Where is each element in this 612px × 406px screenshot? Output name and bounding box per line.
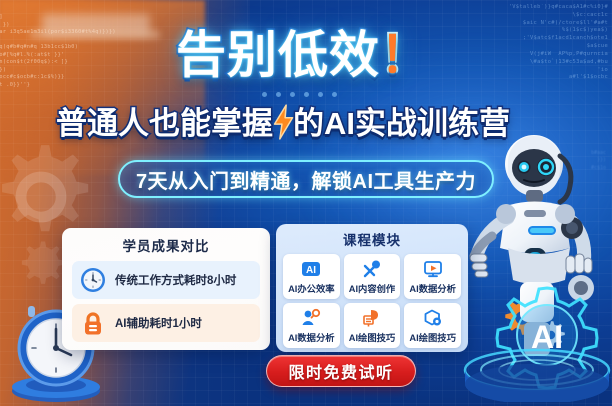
subheadline-left: 普通人也能掌握 [56,98,273,143]
stat-body: 传统工作方式耗时8小时 [115,271,253,289]
cta-label: 限时免费试听 [288,359,393,383]
dot-decoration-row [262,92,337,97]
headline-text: 告别低效 [176,27,380,83]
module-ai-draw-1[interactable]: AI绘图技巧 [344,303,401,348]
hologram-platform [462,330,612,402]
stat-label-ai: AI辅助耗时1小时 [115,318,202,330]
lightning-bolt-icon [270,104,296,140]
lock-icon [79,309,107,337]
user-search-icon [301,308,321,328]
hexagon-gear-icon [423,308,443,328]
stat-row-ai: AI辅助耗时1小时 [72,304,260,342]
promo-banner: }] }) var i3q5ae1m3il(por$i3360#t%4q)})}… [0,0,612,406]
stat-label-traditional: 传统工作方式耗时8小时 [115,275,236,287]
tagline-text: 7天从入门到精通，解锁AI工具生产力 [136,165,476,194]
monitor-play-icon [423,259,443,279]
module-label: AI数据分析 [288,330,335,344]
subheadline: 普通人也能掌握 的AI实战训练营 [56,98,536,142]
stat-body: AI辅助耗时1小时 [115,314,253,332]
module-label: AI绘图技巧 [349,330,396,344]
headline-exclamation: ！ [380,27,431,83]
tagline-pill: 7天从入门到精通，解锁AI工具生产力 [118,160,494,198]
pen-compass-icon [362,259,382,279]
module-ai-data-1[interactable]: AI数据分析 [404,254,461,299]
modules-card-title: 课程模块 [283,229,461,249]
blurred-text-block-2 [30,30,160,39]
page-title: 告别低效！ [176,24,536,86]
module-ai-draw-2[interactable]: AI绘图技巧 [404,303,461,348]
cta-button[interactable]: 限时免费试听 [266,355,416,387]
clock-icon [79,266,107,294]
ai-badge-icon: AI [301,259,321,279]
svg-text:AI: AI [306,265,316,276]
module-ai-office[interactable]: AI AI办公效率 [283,254,340,299]
module-label: AI数据分析 [409,281,456,295]
module-label: AI内容创作 [349,281,396,295]
module-ai-content[interactable]: AI内容创作 [344,254,401,299]
modules-card: 课程模块 AI AI办公效率 [276,224,468,352]
modules-grid: AI AI办公效率 AI内容创作 [283,254,461,348]
module-ai-data-2[interactable]: AI数据分析 [283,303,340,348]
module-label: AI办公效率 [288,281,335,295]
presentation-icon [362,308,382,328]
stat-row-traditional: 传统工作方式耗时8小时 [72,261,260,299]
results-card: 学员成果对比 传统工作方式耗时8小时 [62,228,270,350]
module-label: AI绘图技巧 [409,330,456,344]
results-card-title: 学员成果对比 [72,235,260,255]
